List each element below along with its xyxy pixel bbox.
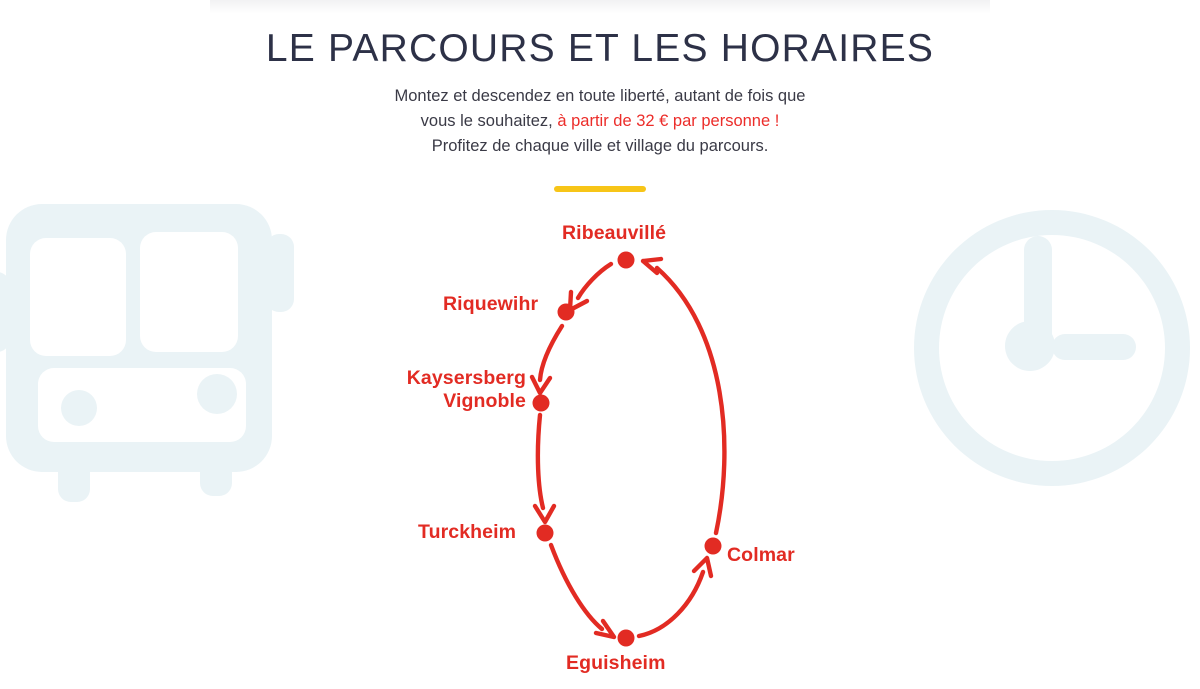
stop-label-eguisheim[interactable]: Eguisheim	[566, 652, 666, 675]
stop-label-turckheim[interactable]: Turckheim	[418, 521, 516, 544]
stop-dot-riquewihr[interactable]	[558, 304, 575, 321]
route-arrow-kaysersberg-turckheim	[535, 415, 554, 522]
route-arrow-riquewihr-kaysersberg	[532, 326, 562, 393]
stop-label-kaysersberg-line-1: Kaysersberg	[407, 367, 526, 389]
page-root: LE PARCOURS ET LES HORAIRES Montez et de…	[0, 0, 1200, 689]
route-arrow-turckheim-eguisheim	[551, 545, 614, 637]
route-arrow-colmar-ribeauville	[643, 259, 724, 533]
stop-dot-kaysersberg-vignoble[interactable]	[533, 395, 550, 412]
route-arrow-ribeauville-riquewihr	[570, 264, 611, 310]
stop-label-riquewihr[interactable]: Riquewihr	[443, 293, 538, 316]
stop-label-kaysersberg-vignoble[interactable]: Kaysersberg Vignoble	[389, 367, 526, 413]
stop-dot-turckheim[interactable]	[537, 525, 554, 542]
stop-dot-eguisheim[interactable]	[618, 630, 635, 647]
stop-label-kaysersberg-line-2: Vignoble	[443, 390, 526, 412]
route-diagram	[0, 0, 1200, 689]
stop-label-ribeauville[interactable]: Ribeauvillé	[562, 222, 666, 245]
stop-dot-colmar[interactable]	[705, 538, 722, 555]
stop-dot-ribeauville[interactable]	[618, 252, 635, 269]
route-arrow-eguisheim-colmar	[639, 558, 711, 636]
stop-label-colmar[interactable]: Colmar	[727, 544, 795, 567]
